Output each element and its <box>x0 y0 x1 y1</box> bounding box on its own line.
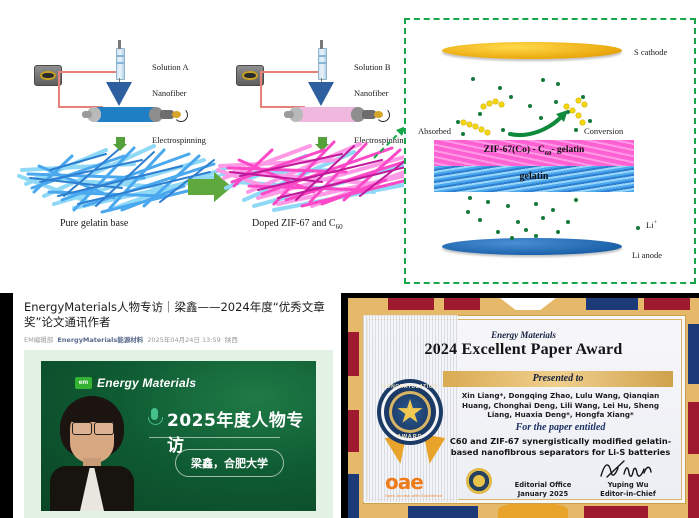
microphone-icon <box>151 408 158 420</box>
certificate-authors: Xin Liang*, Dongqing Zhao, Lulu Wang, Qi… <box>453 391 668 420</box>
certificate-image: Energy Materials 2024 Excellent Paper Aw… <box>348 298 699 518</box>
secondary-badge-icon <box>466 468 492 494</box>
solution-a-label: Solution A <box>152 62 189 72</box>
avatar <box>50 396 134 511</box>
seal-bottom-text: AWARD <box>377 434 443 440</box>
oae-tagline: Open Access with Excellence <box>385 494 459 498</box>
meta-author: EM编辑部 <box>24 336 53 344</box>
gelatin-fiber-mat <box>14 126 234 216</box>
nanofiber-label-a: Nanofiber <box>152 88 186 98</box>
editorial-office-block: Editorial OfficeJanuary 2025 <box>508 481 578 499</box>
em-logo-icon: em <box>75 377 92 389</box>
for-paper-entitled-label: For the paper entitled <box>453 422 668 433</box>
wechat-article-panel: EnergyMaterials人物专访｜梁鑫——2024年度“优秀文章奖”论文通… <box>13 293 341 518</box>
conversion-arrow <box>506 108 576 140</box>
li-anode-label: Li anode <box>632 250 662 260</box>
oae-wordmark: oae <box>385 470 459 494</box>
conversion-label: Conversion <box>584 126 623 136</box>
zif-layer-label: ZIF-67(Co) - C60- gelatin <box>434 145 634 157</box>
editor-block: Yuping WuEditor-in-Chief <box>588 481 668 499</box>
nanofiber-label-b: Nanofiber <box>354 88 388 98</box>
s-cathode-electrode <box>442 42 622 59</box>
seal-top-text: CONGRATULATION <box>377 384 443 390</box>
screenshot-root: Solution A Nanofiber Electrospinning <box>0 0 699 518</box>
wire-top <box>60 71 120 73</box>
divider <box>149 437 280 438</box>
signature <box>598 460 658 480</box>
certificate-journal: Energy Materials <box>348 330 699 340</box>
solution-b-label: Solution B <box>354 62 391 72</box>
wire-down <box>58 71 60 107</box>
bottom-panels: EnergyMaterials人物专访｜梁鑫——2024年度“优秀文章奖”论文通… <box>0 293 699 518</box>
taylor-cone-b <box>308 82 334 106</box>
caption-doped: Doped ZIF-67 and C60 <box>252 218 343 231</box>
oae-logo: oae Open Access with Excellence <box>385 470 459 496</box>
absorbed-label: Absorbed <box>418 126 451 136</box>
battery-cell-diagram: S cathode Li anode Li+ Absorbe <box>404 18 696 284</box>
article-meta: EM编辑部 EnergyMaterials能源材料 2025年04月24日 13… <box>24 334 336 344</box>
meta-account[interactable]: EnergyMaterials能源材料 <box>57 336 143 344</box>
video-guest-pill: 梁鑫，合肥大学 <box>175 449 284 477</box>
meta-location: 陕西 <box>225 336 238 344</box>
syringe-icon <box>116 48 125 80</box>
video-brand-label: Energy Materials <box>97 376 196 390</box>
caption-pure-gelatin: Pure gelatin base <box>60 218 128 229</box>
li-anode-electrode <box>442 238 622 255</box>
li-ion-legend-dot <box>636 226 640 230</box>
collector-drum-a <box>91 107 161 122</box>
collector-drum-b <box>293 107 363 122</box>
gelatin-layer-label: gelatin <box>434 171 634 182</box>
certificate-paper-title: C60 and ZIF-67 synergistically modified … <box>438 436 683 458</box>
meta-datetime: 2025年04月24日 13:59 <box>147 336 220 344</box>
presented-to-label: Presented to <box>443 371 673 387</box>
schematic-figure: Solution A Nanofiber Electrospinning <box>0 0 699 290</box>
certificate-award-title: 2024 Excellent Paper Award <box>348 341 699 359</box>
taylor-cone <box>106 82 132 106</box>
award-seal-icon: CONGRATULATION AWARD <box>377 379 443 445</box>
video-container: em Energy Materials 2025年度人物专访 梁鑫，合肥大学 <box>24 350 333 518</box>
syringe-icon-b <box>318 48 327 80</box>
video-thumbnail[interactable]: em Energy Materials 2025年度人物专访 梁鑫，合肥大学 <box>41 361 316 511</box>
article-title: EnergyMaterials人物专访｜梁鑫——2024年度“优秀文章奖”论文通… <box>24 300 332 330</box>
li-ion-legend-label: Li+ <box>646 220 657 230</box>
s-cathode-label: S cathode <box>634 47 667 57</box>
